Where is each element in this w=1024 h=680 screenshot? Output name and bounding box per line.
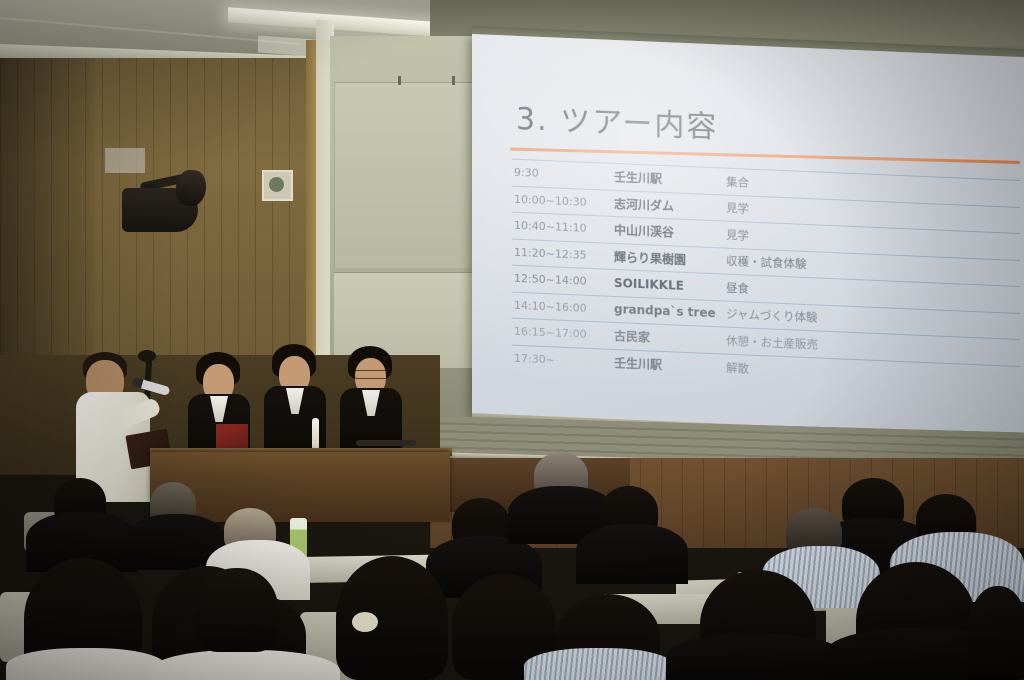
photo-scene: 3. ツアー内容 9:30壬生川駅集合10:00~10:30志河川ダム見学10:… bbox=[0, 0, 1024, 680]
audience-shoulders-white bbox=[150, 650, 340, 680]
audience-head-front bbox=[968, 586, 1024, 680]
schedule-time: 9:30 bbox=[512, 159, 612, 190]
schedule-time: 10:40~11:10 bbox=[512, 212, 612, 243]
audience-shoulders bbox=[576, 524, 688, 584]
board-clip bbox=[398, 76, 401, 85]
wall-patch bbox=[105, 148, 145, 173]
schedule-table: 9:30壬生川駅集合10:00~10:30志河川ダム見学10:40~11:10中… bbox=[512, 159, 1020, 393]
schedule-time: 12:50~14:00 bbox=[512, 265, 612, 296]
wall-shadow bbox=[0, 58, 95, 358]
glasses-icon bbox=[354, 370, 388, 379]
projection-screen: 3. ツアー内容 9:30壬生川駅集合10:00~10:30志河川ダム見学10:… bbox=[472, 34, 1024, 439]
schedule-time: 17:30~ bbox=[512, 345, 612, 376]
desk-microphone bbox=[356, 440, 416, 446]
schedule-time: 11:20~12:35 bbox=[512, 239, 612, 270]
audience-shoulders bbox=[666, 634, 846, 680]
board-clip bbox=[452, 76, 455, 85]
schedule-time: 14:10~16:00 bbox=[512, 292, 612, 323]
microphone-stand-head bbox=[138, 350, 156, 362]
slide-content: 3. ツアー内容 9:30壬生川駅集合10:00~10:30志河川ダム見学10:… bbox=[472, 34, 1024, 439]
schedule-time: 10:00~10:30 bbox=[512, 186, 612, 217]
wall-vent-icon bbox=[262, 170, 293, 201]
schedule-time: 16:15~17:00 bbox=[512, 318, 612, 349]
schedule-place: 壬生川駅 bbox=[612, 349, 724, 380]
podium-microphone bbox=[312, 418, 319, 452]
hair-tie bbox=[352, 612, 378, 632]
audience-head-front bbox=[196, 568, 278, 652]
audience-shoulders-white bbox=[6, 648, 166, 680]
audience-shoulders-striped bbox=[524, 648, 674, 680]
